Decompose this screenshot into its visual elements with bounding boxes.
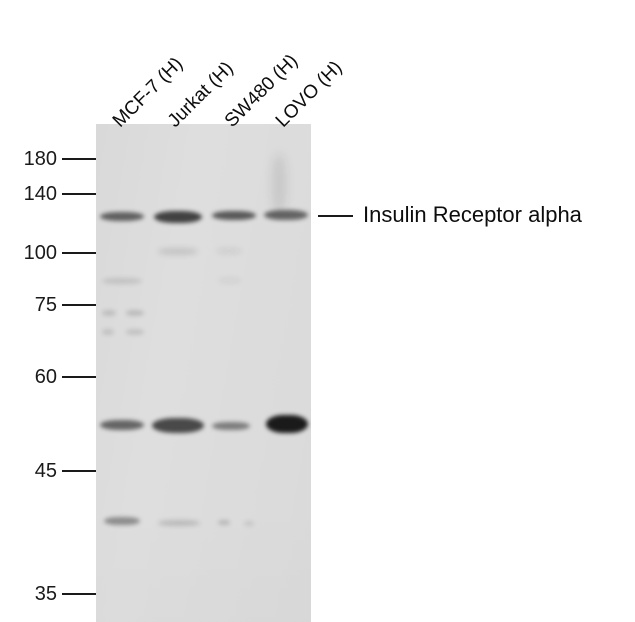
ladder-tick — [62, 193, 96, 195]
blot-band — [244, 521, 254, 526]
blot-band — [158, 248, 198, 255]
blot-band — [212, 211, 256, 220]
blot-band — [216, 248, 242, 254]
ladder-label: 140 — [24, 184, 57, 204]
blot-band — [100, 420, 144, 430]
ladder-label: 45 — [35, 461, 57, 481]
annotation-pointer-line — [318, 215, 353, 217]
ladder-label: 180 — [24, 149, 57, 169]
ladder-label: 60 — [35, 367, 57, 387]
blot-band — [102, 278, 142, 284]
ladder-label: 35 — [35, 584, 57, 604]
blot-band — [158, 520, 200, 526]
blot-band — [126, 310, 144, 316]
blot-band — [102, 329, 114, 335]
ladder-label: 100 — [24, 243, 57, 263]
blot-band — [152, 418, 204, 433]
ladder-tick — [62, 252, 96, 254]
ladder-tick — [62, 593, 96, 595]
blot-band — [126, 329, 144, 335]
blot-band — [100, 212, 144, 221]
ladder-tick — [62, 304, 96, 306]
blot-band — [266, 415, 308, 433]
ladder-tick — [62, 376, 96, 378]
blot-band — [264, 210, 308, 220]
blot-band — [218, 278, 242, 283]
blot-band — [212, 422, 250, 430]
target-protein-label: Insulin Receptor alpha — [363, 204, 582, 226]
ladder-tick — [62, 158, 96, 160]
blot-band — [218, 520, 230, 525]
ladder-tick — [62, 470, 96, 472]
blot-band — [154, 211, 202, 223]
blot-band — [102, 310, 116, 316]
blot-membrane — [96, 124, 311, 622]
blot-band — [272, 154, 286, 214]
ladder-label: 75 — [35, 295, 57, 315]
western-blot-figure: 18014010075604535 MCF-7 (H)Jurkat (H)SW4… — [0, 0, 635, 622]
blot-band — [104, 517, 140, 525]
